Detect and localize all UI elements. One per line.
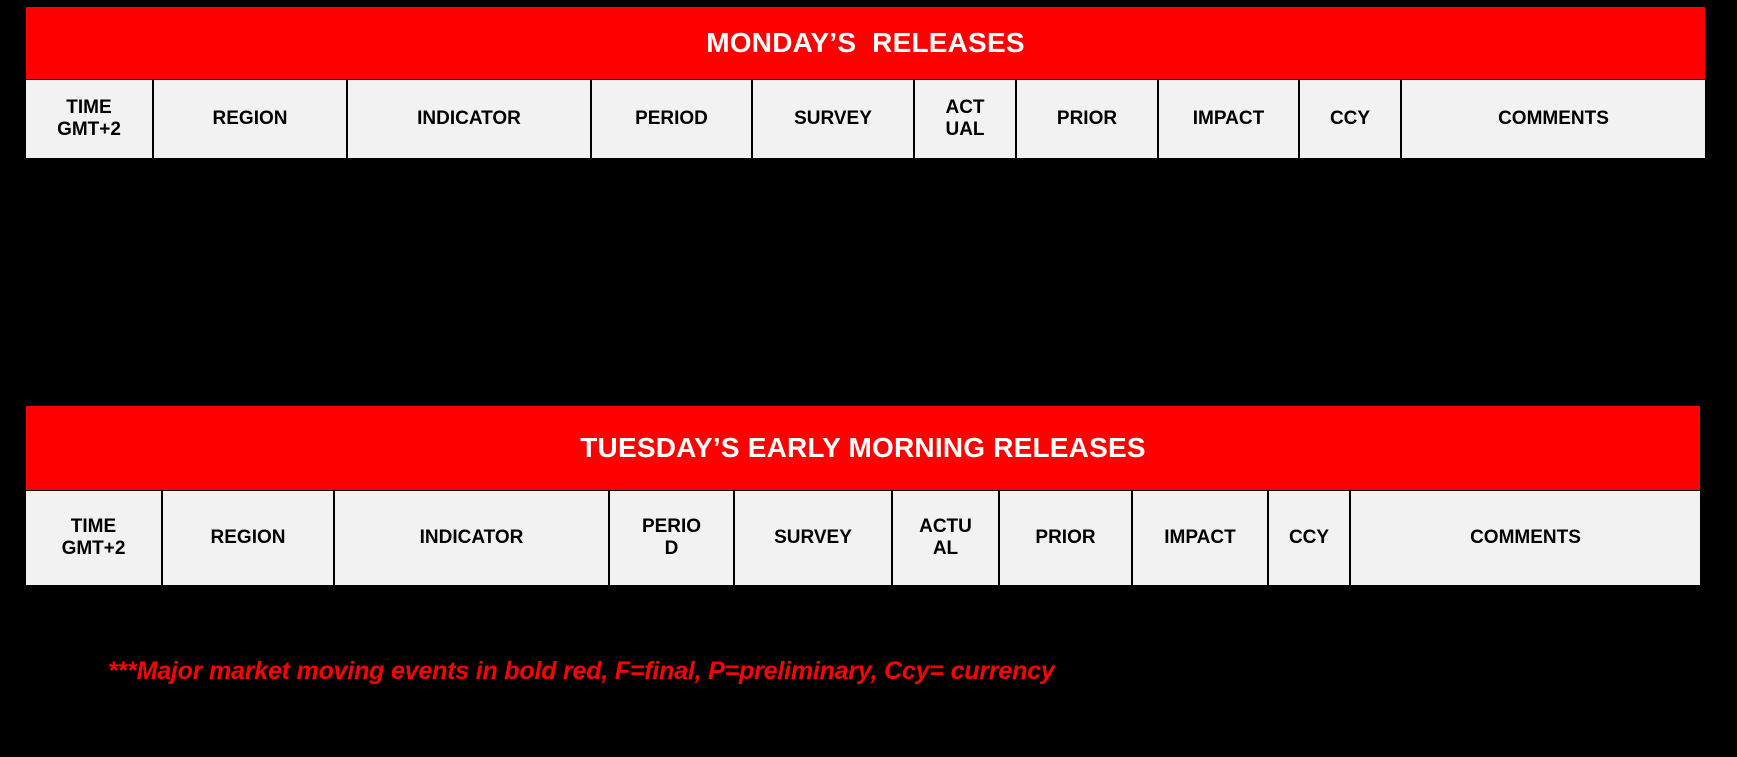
column-header-label: ACT UAL [945,97,984,142]
column-header-actu-al: ACTU AL [893,491,1000,585]
column-header-label: CCY [1330,108,1370,130]
column-header-comments: COMMENTS [1351,491,1700,585]
column-header-prior: PRIOR [1000,491,1133,585]
column-header-perio-d: PERIO D [610,491,735,585]
column-header-ccy: CCY [1269,491,1351,585]
legend-note: ***Major market moving events in bold re… [108,657,1608,686]
column-header-act-ual: ACT UAL [915,80,1017,158]
column-header-region: REGION [154,80,348,158]
column-header-label: COMMENTS [1470,527,1581,549]
column-header-label: PRIOR [1035,527,1095,549]
column-header-label: TIME GMT+2 [62,516,126,561]
column-header-label: REGION [213,108,288,130]
column-header-label: SURVEY [774,527,852,549]
column-header-label: SURVEY [794,108,872,130]
column-header-label: TIME GMT+2 [57,97,121,142]
tuesday-column-header-row: TIME GMT+2REGIONINDICATORPERIO DSURVEYAC… [26,491,1700,585]
column-header-time-gmt-2: TIME GMT+2 [26,80,154,158]
column-header-label: INDICATOR [417,108,521,130]
monday-releases-table: MONDAY’S RELEASES TIME GMT+2REGIONINDICA… [26,7,1705,158]
column-header-indicator: INDICATOR [335,491,610,585]
column-header-label: COMMENTS [1498,108,1609,130]
column-header-label: ACTU AL [919,516,972,561]
monday-column-header-row: TIME GMT+2REGIONINDICATORPERIODSURVEYACT… [26,80,1705,158]
column-header-label: PRIOR [1057,108,1117,130]
column-header-period: PERIOD [592,80,753,158]
column-header-prior: PRIOR [1017,80,1159,158]
column-header-indicator: INDICATOR [348,80,592,158]
column-header-label: INDICATOR [420,527,524,549]
column-header-impact: IMPACT [1159,80,1300,158]
column-header-comments: COMMENTS [1402,80,1705,158]
column-header-region: REGION [163,491,335,585]
column-header-impact: IMPACT [1133,491,1269,585]
column-header-label: CCY [1289,527,1329,549]
column-header-label: IMPACT [1164,527,1235,549]
tuesday-releases-table: TUESDAY’S EARLY MORNING RELEASES TIME GM… [26,406,1700,585]
column-header-label: PERIOD [635,108,708,130]
column-header-survey: SURVEY [753,80,915,158]
column-header-time-gmt-2: TIME GMT+2 [26,491,163,585]
column-header-survey: SURVEY [735,491,893,585]
monday-table-title: MONDAY’S RELEASES [26,7,1705,79]
column-header-ccy: CCY [1300,80,1402,158]
column-header-label: IMPACT [1193,108,1264,130]
column-header-label: REGION [211,527,286,549]
tuesday-table-title: TUESDAY’S EARLY MORNING RELEASES [26,406,1700,490]
column-header-label: PERIO D [642,516,701,561]
